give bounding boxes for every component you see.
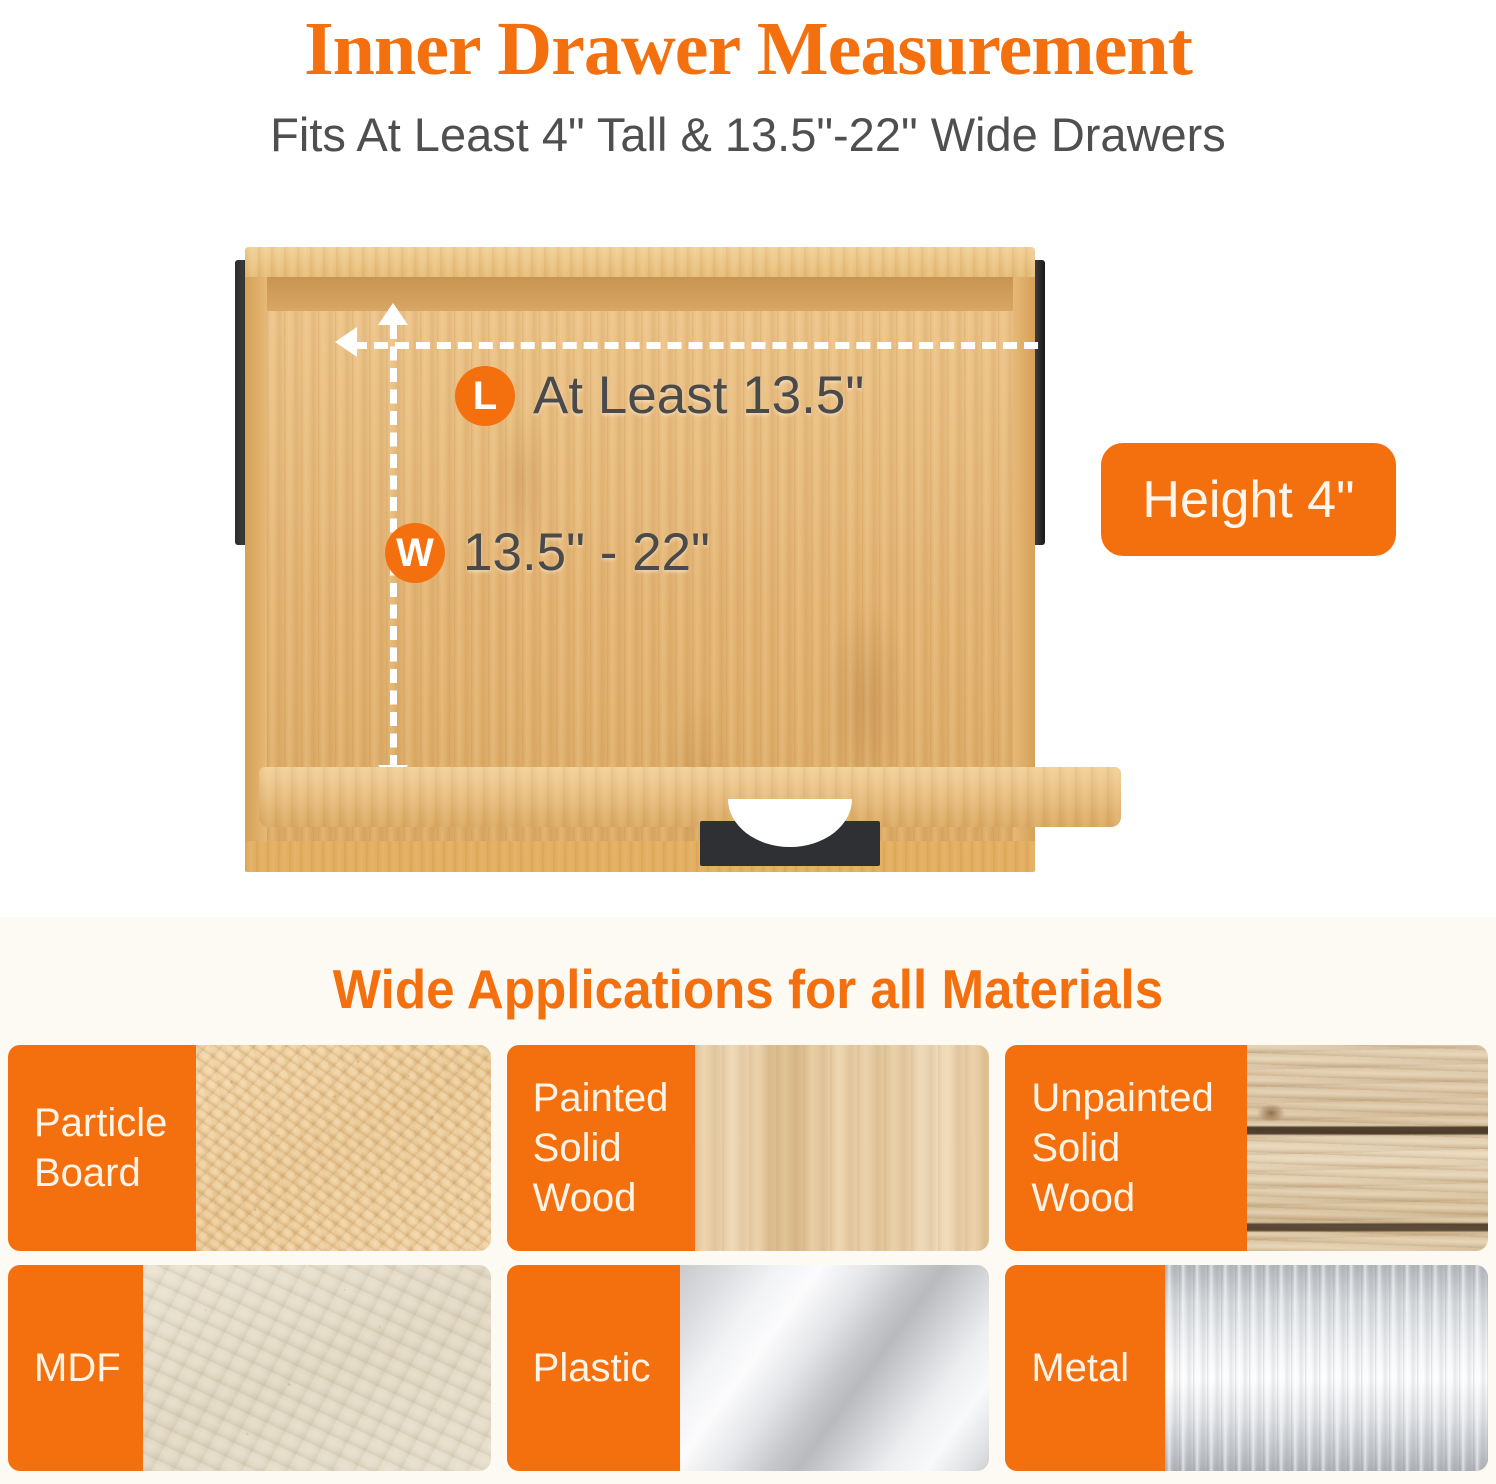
material-card-plastic: Plastic xyxy=(507,1265,990,1471)
material-card-painted-solid-wood: Painted Solid Wood xyxy=(507,1045,990,1251)
material-label-line: Board xyxy=(34,1148,167,1198)
length-badge-icon: L xyxy=(455,366,515,426)
arrow-left-icon xyxy=(335,327,357,357)
drawer-inner-wall-left xyxy=(245,275,267,841)
height-badge-label: Height 4" xyxy=(1142,470,1354,530)
material-swatch-particle-board xyxy=(196,1045,490,1251)
width-value: 13.5" - 22" xyxy=(463,522,710,583)
material-swatch-unpainted-solid-wood xyxy=(1247,1045,1488,1251)
measurement-section: Inner Drawer Measurement Fits At Least 4… xyxy=(0,0,1496,917)
drawer-illustration: L At Least 13.5" W 13.5" - 22" xyxy=(190,225,1090,865)
material-swatch-painted-solid-wood xyxy=(695,1045,989,1251)
material-label-metal: Metal xyxy=(1005,1265,1164,1471)
drawer-front-rail xyxy=(259,767,1121,827)
length-dimension-line xyxy=(353,342,1059,349)
drawer-stand-handle-icon xyxy=(700,821,880,866)
drawer-inner-wall-right xyxy=(1013,275,1035,841)
material-label-line: Solid xyxy=(533,1123,669,1173)
material-swatch-plastic xyxy=(680,1265,989,1471)
materials-heading: Wide Applications for all Materials xyxy=(52,957,1443,1021)
material-card-particle-board: Particle Board xyxy=(8,1045,491,1251)
material-label-line: Metal xyxy=(1031,1343,1129,1393)
arrow-right-icon xyxy=(1057,327,1079,357)
arrow-up-icon xyxy=(378,303,408,325)
material-label-line: Solid xyxy=(1031,1123,1213,1173)
material-swatch-metal xyxy=(1165,1265,1488,1471)
length-value: At Least 13.5" xyxy=(533,365,864,426)
material-label-line: Particle xyxy=(34,1098,167,1148)
material-label-line: Wood xyxy=(533,1173,669,1223)
materials-grid: Particle Board Painted Solid Wood Unpain… xyxy=(8,1045,1488,1471)
material-label-line: Painted xyxy=(533,1073,669,1123)
materials-section: Wide Applications for all Materials Part… xyxy=(0,917,1496,1484)
material-card-mdf: MDF xyxy=(8,1265,491,1471)
page-subtitle: Fits At Least 4" Tall & 13.5"-22" Wide D… xyxy=(0,104,1496,166)
material-card-metal: Metal xyxy=(1005,1265,1488,1471)
material-card-unpainted-solid-wood: Unpainted Solid Wood xyxy=(1005,1045,1488,1251)
material-label-line: Wood xyxy=(1031,1173,1213,1223)
material-label-line: Plastic xyxy=(533,1343,651,1393)
material-label-line: MDF xyxy=(34,1343,121,1393)
material-swatch-mdf xyxy=(143,1265,491,1471)
height-badge: Height 4" xyxy=(1101,443,1396,556)
width-dimension-label: W 13.5" - 22" xyxy=(385,522,710,583)
length-dimension-label: L At Least 13.5" xyxy=(455,365,864,426)
drawer-stand-arch xyxy=(728,799,852,847)
material-label-particle-board: Particle Board xyxy=(8,1045,196,1251)
width-badge-icon: W xyxy=(385,523,445,583)
page-title: Inner Drawer Measurement xyxy=(0,6,1496,92)
material-label-unpainted-solid-wood: Unpainted Solid Wood xyxy=(1005,1045,1246,1251)
material-label-painted-solid-wood: Painted Solid Wood xyxy=(507,1045,695,1251)
material-label-line: Unpainted xyxy=(1031,1073,1213,1123)
material-label-mdf: MDF xyxy=(8,1265,143,1471)
drawer-body: L At Least 13.5" W 13.5" - 22" xyxy=(245,247,1035,872)
material-label-plastic: Plastic xyxy=(507,1265,681,1471)
drawer-top-rail xyxy=(245,247,1035,277)
